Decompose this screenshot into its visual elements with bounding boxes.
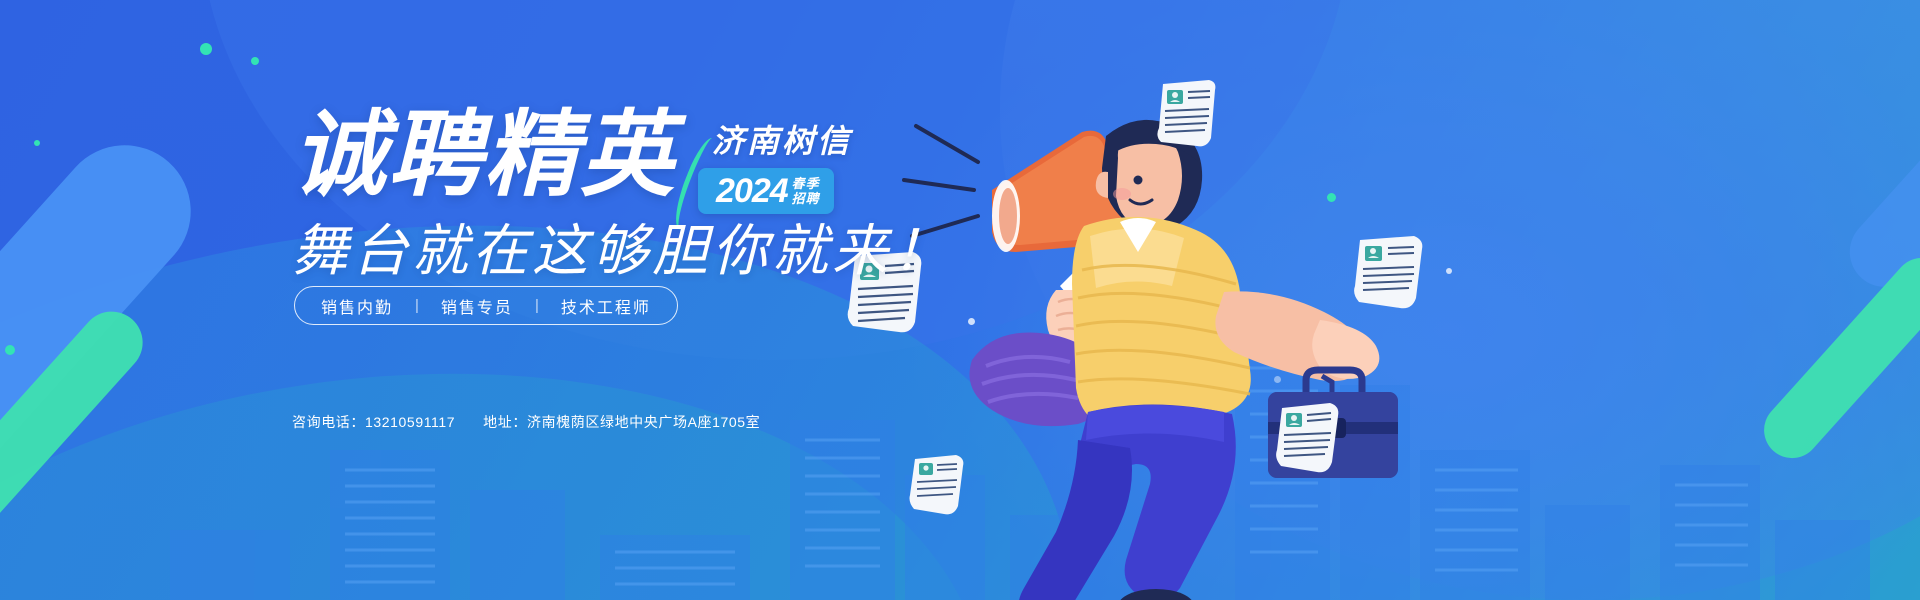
badge-season-line1: 春季 [792,176,820,191]
address-label: 地址： [483,412,527,432]
tag-separator: | [415,297,419,314]
brand-block: 济南树信 2024 春季 招聘 [698,108,852,214]
job-tags-pill: 销售内勤 | 销售专员 | 技术工程师 [294,286,678,325]
badge-year: 2024 [716,174,788,208]
contact-info: 咨询电话： 13210591117 地址： 济南槐荫区绿地中央广场A座1705室 [292,412,760,432]
banner-content: 诚聘精英 济南树信 2024 春季 招聘 舞台就在这够胆你就来！ 销售内勤 | … [0,0,1920,600]
headline-row: 诚聘精英 济南树信 2024 春季 招聘 [292,108,852,214]
job-tag-sales-specialist[interactable]: 销售专员 [441,294,513,318]
address-value: 济南槐荫区绿地中央广场A座1705室 [527,412,760,432]
recruitment-banner: 诚聘精英 济南树信 2024 春季 招聘 舞台就在这够胆你就来！ 销售内勤 | … [0,0,1920,600]
phone-value: 13210591117 [365,414,455,430]
subheadline: 舞台就在这够胆你就来！ [292,206,952,287]
badge-season: 春季 招聘 [792,176,820,207]
tag-separator: | [535,297,539,314]
badge-season-line2: 招聘 [792,191,820,206]
job-tag-sales-assistant[interactable]: 销售内勤 [321,294,393,318]
phone-label: 咨询电话： [292,412,365,432]
job-tag-technical-engineer[interactable]: 技术工程师 [561,294,651,318]
page-title: 诚聘精英 [292,108,676,202]
